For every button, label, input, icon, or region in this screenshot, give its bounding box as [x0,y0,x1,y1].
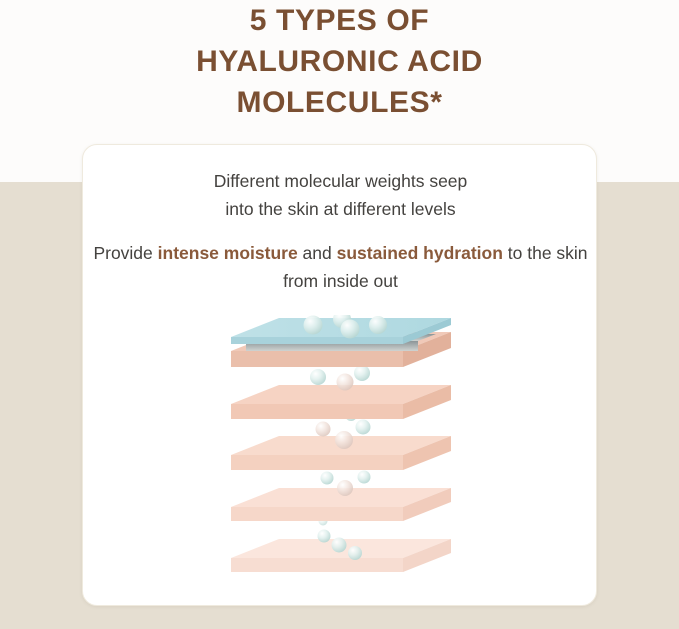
info-card: Different molecular weights seep into th… [82,144,597,606]
paragraph-2-mid: and [298,243,337,263]
skin-layers-illustration [211,315,471,585]
page-title: 5 TYPES OF HYALURONIC ACID MOLECULES* [0,0,679,123]
title-line-3: MOLECULES* [0,82,679,123]
paragraph-2: Provide intense moisture and sustained h… [83,239,597,295]
paragraph-2-pre: Provide [93,243,157,263]
title-line-1: 5 TYPES OF [0,0,679,41]
paragraph-2-highlight-1: intense moisture [158,243,298,263]
paragraph-1: Different molecular weights seep into th… [83,167,597,223]
card-copy: Different molecular weights seep into th… [83,167,597,295]
paragraph-1-line-1: Different molecular weights seep [83,167,597,195]
skin-layers-diagram [83,315,597,585]
skin-layer-2 [231,385,451,419]
title-line-2: HYALURONIC ACID [0,41,679,82]
paragraph-2-highlight-2: sustained hydration [337,243,503,263]
paragraph-1-line-2: into the skin at different levels [83,195,597,223]
